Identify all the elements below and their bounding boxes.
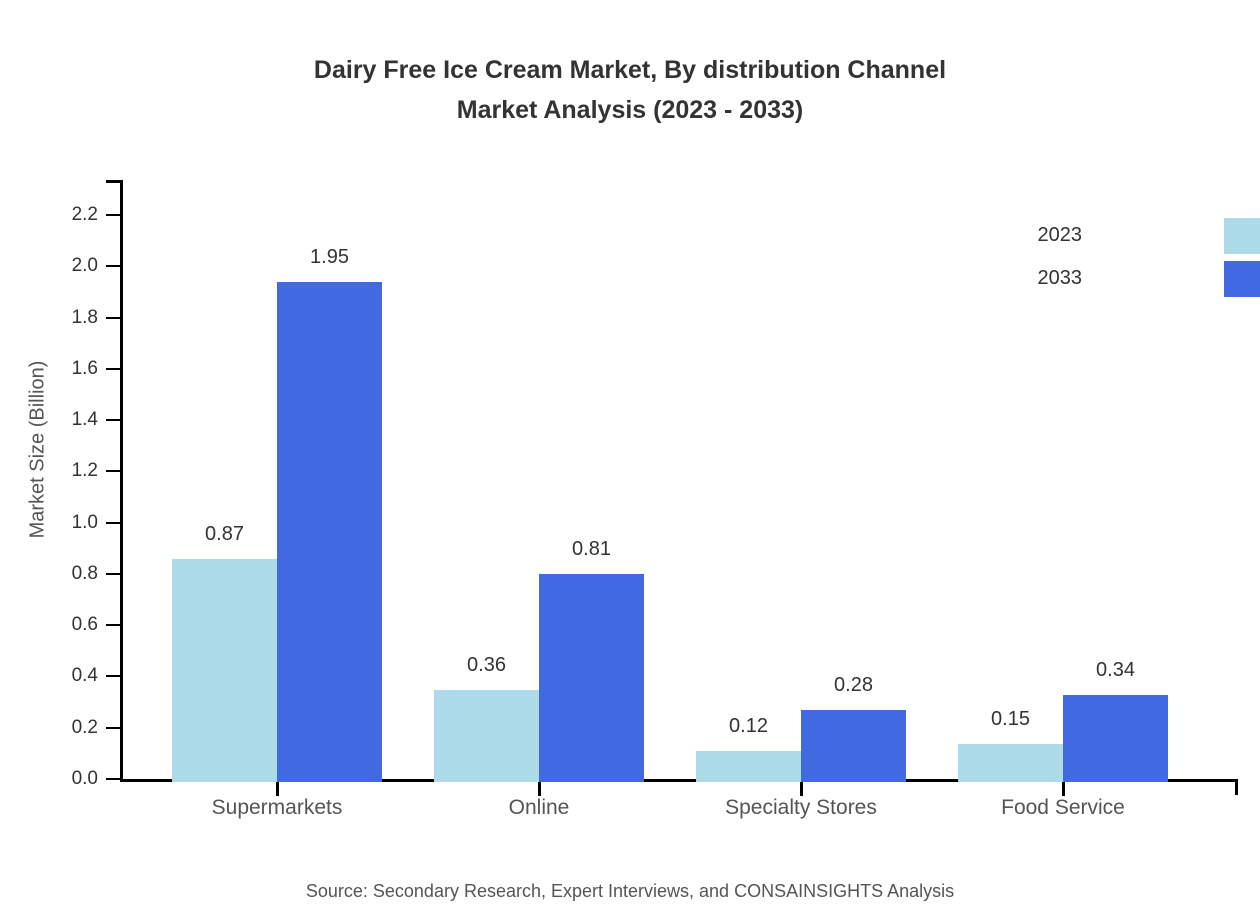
- y-tick-label: 1.4: [8, 410, 98, 429]
- y-tick-label: 0.6: [8, 615, 98, 634]
- chart-title-line-2: Market Analysis (2023 - 2033): [0, 90, 1260, 130]
- bar-value-label: 0.28: [774, 675, 934, 695]
- legend-swatch-2033: [1224, 261, 1260, 297]
- y-tick-label: 2.0: [8, 256, 98, 275]
- bar-value-label: 1.95: [250, 247, 410, 267]
- bar-2033-food-service[interactable]: [1063, 695, 1168, 782]
- bar-2033-supermarkets[interactable]: [277, 282, 382, 782]
- chart-legend: 2023 2033: [1120, 218, 1260, 318]
- bar-value-label: 0.34: [1036, 660, 1196, 680]
- x-tick-label-online: Online: [389, 793, 689, 823]
- legend-label-2033: 2033: [992, 268, 1082, 288]
- x-tick-label-specialty-stores: Specialty Stores: [651, 793, 951, 823]
- y-tick-label: 0.2: [8, 718, 98, 737]
- y-tick-label: 1.2: [8, 461, 98, 480]
- y-tick-label: 0.4: [8, 666, 98, 685]
- y-tick-label: 1.8: [8, 308, 98, 327]
- chart-title-line-1: Dairy Free Ice Cream Market, By distribu…: [0, 50, 1260, 90]
- bar-2023-supermarkets[interactable]: [172, 559, 277, 782]
- bar-2023-online[interactable]: [434, 690, 539, 782]
- bar-value-label: 0.81: [512, 539, 672, 559]
- x-axis-right-cap: [1235, 779, 1238, 795]
- bar-2033-online[interactable]: [539, 574, 644, 782]
- chart-title: Dairy Free Ice Cream Market, By distribu…: [0, 50, 1260, 130]
- source-note: Source: Secondary Research, Expert Inter…: [0, 878, 1260, 904]
- y-tick-label: 0.0: [8, 769, 98, 788]
- legend-swatch-2023: [1224, 218, 1260, 254]
- y-tick-label: 1.6: [8, 359, 98, 378]
- legend-label-2023: 2023: [992, 225, 1082, 245]
- x-tick-label-supermarkets: Supermarkets: [127, 793, 427, 823]
- y-tick-label: 2.2: [8, 205, 98, 224]
- bar-2023-food-service[interactable]: [958, 744, 1063, 782]
- bar-2033-specialty-stores[interactable]: [801, 710, 906, 782]
- bar-2023-specialty-stores[interactable]: [696, 751, 801, 782]
- x-tick-label-food-service: Food Service: [913, 793, 1213, 823]
- y-tick-label: 1.0: [8, 513, 98, 532]
- y-tick-label: 0.8: [8, 564, 98, 583]
